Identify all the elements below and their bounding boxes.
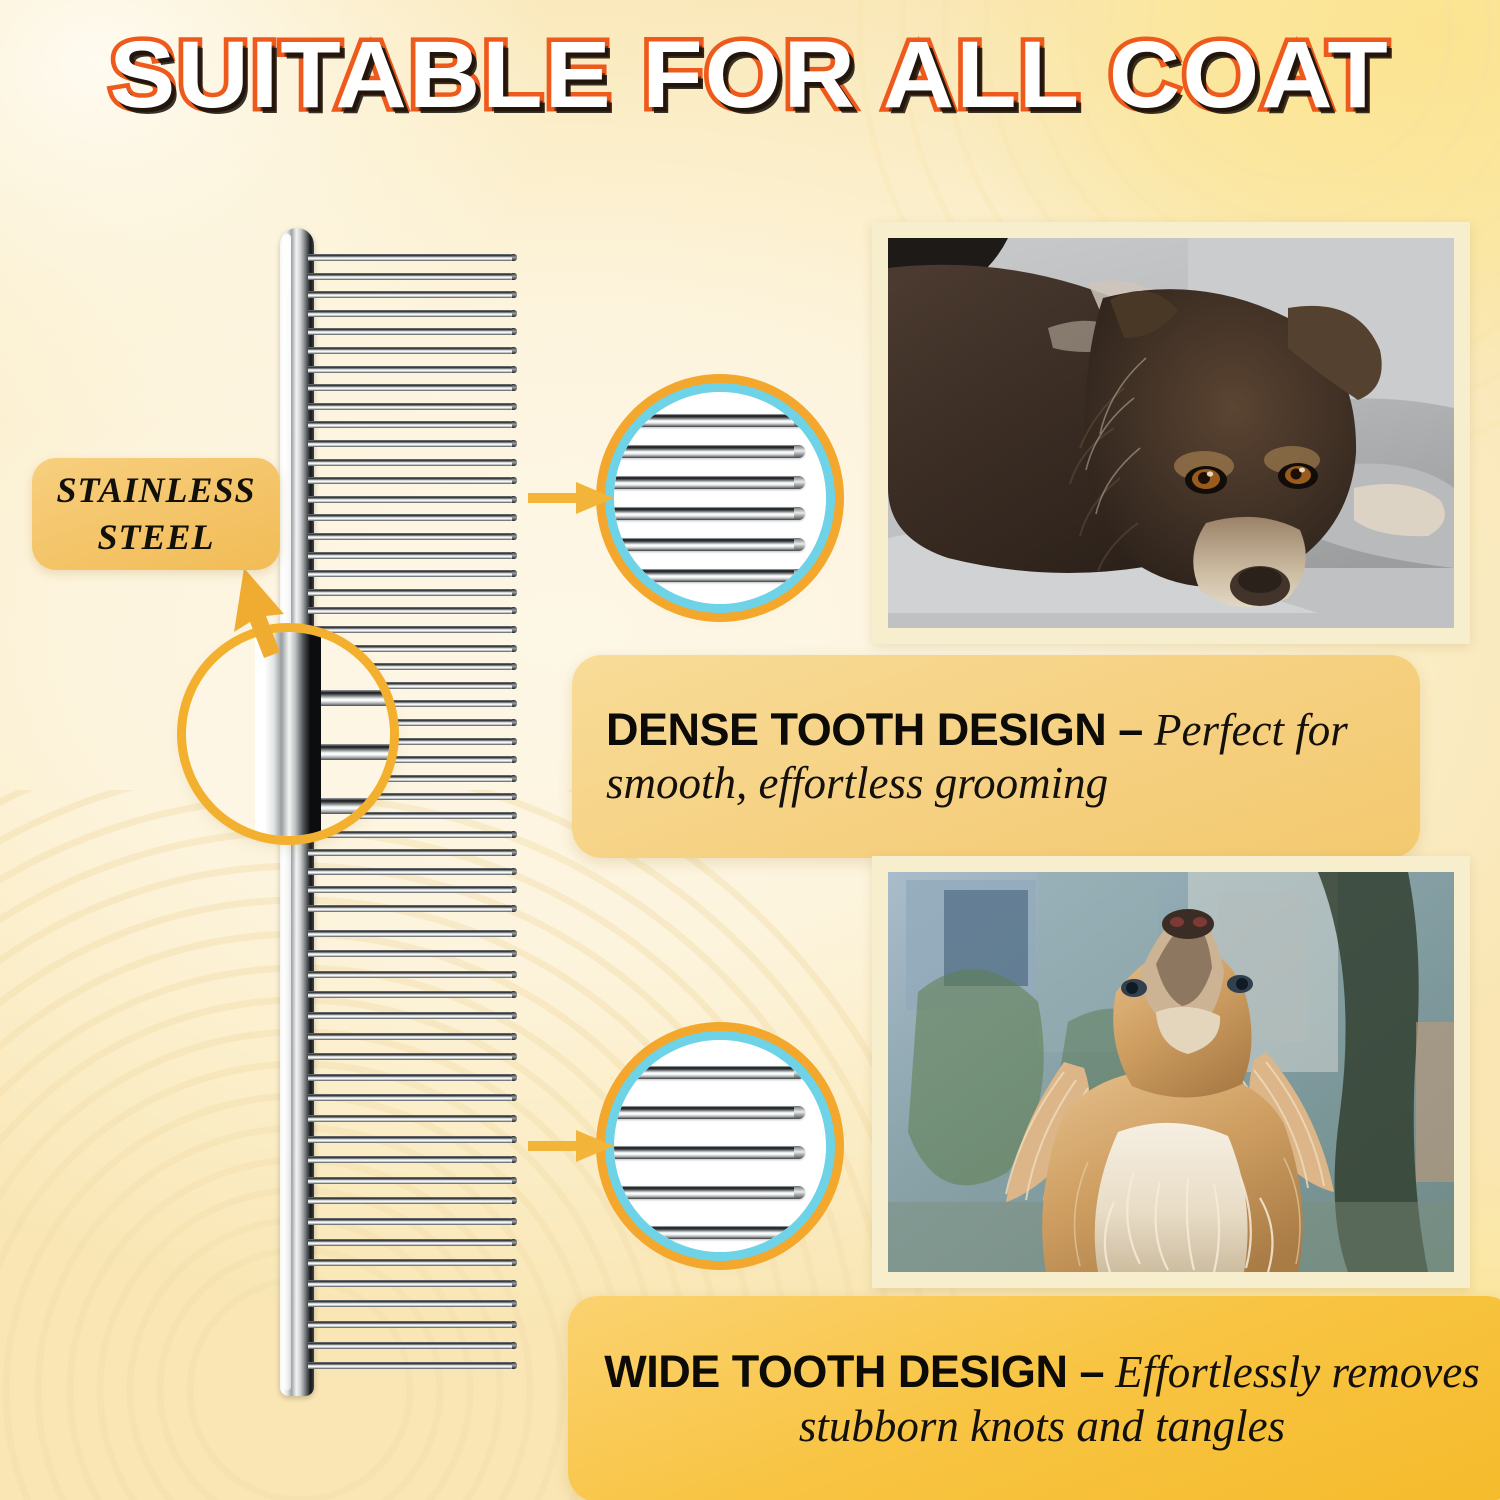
dense-tooth-caption: DENSE TOOTH DESIGN – Perfect for smooth,… <box>572 655 1420 858</box>
comb-tooth-wide <box>308 1342 514 1349</box>
comb-tooth-wide <box>308 930 514 937</box>
comb-tooth-dense <box>308 496 514 503</box>
wide-tooth-caption-strong: WIDE TOOTH DESIGN – <box>604 1346 1104 1397</box>
photo-dog-resting <box>888 238 1454 628</box>
photo-dog-looking-up-frame <box>872 856 1470 1288</box>
comb-tooth-wide <box>308 1012 514 1019</box>
magnifier-tooth <box>614 1066 805 1079</box>
magnifier-tooth <box>614 1226 805 1239</box>
comb-tooth-dense <box>308 589 514 596</box>
comb-tooth-wide <box>308 1177 514 1184</box>
stainless-steel-label: STAINLESS STEEL <box>32 458 280 570</box>
comb-tooth-dense <box>308 273 514 280</box>
wide-tooth-magnifier <box>614 1040 826 1252</box>
magnifier-tooth <box>614 569 805 582</box>
comb-tooth-dense <box>308 514 514 521</box>
magnifier-tooth <box>614 476 805 489</box>
comb-tooth-wide <box>308 1259 514 1266</box>
stainless-steel-line1: STAINLESS <box>56 470 255 510</box>
comb-tooth-wide <box>308 1321 514 1328</box>
comb-tooth-dense <box>308 384 514 391</box>
comb-tooth-dense <box>308 831 514 838</box>
dense-tooth-magnifier-inner <box>614 392 826 604</box>
magnifier-tooth <box>614 445 805 458</box>
comb-tooth-wide <box>308 1136 514 1143</box>
magnifier-tooth <box>614 538 805 551</box>
photo-dog-looking-up <box>888 872 1454 1272</box>
comb-tooth-dense <box>308 366 514 373</box>
comb-tooth-wide <box>308 1239 514 1246</box>
infographic-canvas: SUITABLE FOR ALL COAT STAINLESS STEEL <box>0 0 1500 1500</box>
photo-dog-resting-frame <box>872 222 1470 644</box>
comb-tooth-wide <box>308 1033 514 1040</box>
comb-tooth-dense <box>308 459 514 466</box>
comb-tooth-dense <box>308 403 514 410</box>
comb-tooth-dense <box>308 291 514 298</box>
comb-tooth-wide <box>308 1300 514 1307</box>
comb-tooth-wide <box>308 1094 514 1101</box>
dense-tooth-caption-text: DENSE TOOTH DESIGN – Perfect for smooth,… <box>606 703 1386 810</box>
comb-tooth-dense <box>308 310 514 317</box>
comb-tooth-dense <box>308 533 514 540</box>
comb-tooth-wide <box>308 1280 514 1287</box>
comb-tooth-wide <box>308 1074 514 1081</box>
stainless-steel-line2: STEEL <box>97 517 214 557</box>
comb-tooth-dense <box>308 849 514 856</box>
comb-tooth-dense <box>308 868 514 875</box>
arrow-right-icon <box>528 480 614 516</box>
comb-tooth-dense <box>308 254 514 261</box>
comb-tooth-dense <box>308 347 514 354</box>
comb-tooth-wide <box>308 971 514 978</box>
spine-magnifier-tooth <box>321 690 390 706</box>
wide-tooth-caption-text: WIDE TOOTH DESIGN – Effortlessly removes… <box>598 1345 1486 1452</box>
magnifier-tooth <box>614 1146 805 1159</box>
comb-tooth-wide <box>308 1156 514 1163</box>
comb-tooth-dense <box>308 440 514 447</box>
spine-magnifier-tooth <box>321 798 390 814</box>
comb-tooth-dense <box>308 570 514 577</box>
wide-tooth-magnifier-inner <box>614 1040 826 1252</box>
comb-tooth-wide <box>308 991 514 998</box>
comb-tooth-dense <box>308 607 514 614</box>
comb-tooth-wide <box>308 1362 514 1369</box>
stainless-steel-label-text: STAINLESS STEEL <box>56 467 255 561</box>
dense-tooth-magnifier <box>614 392 826 604</box>
comb-tooth-wide <box>308 950 514 957</box>
comb-tooth-dense <box>308 477 514 484</box>
comb-tooth-wide <box>308 1218 514 1225</box>
magnifier-tooth <box>614 1106 805 1119</box>
comb-tooth-dense <box>308 905 514 912</box>
comb-tooth-wide <box>308 1115 514 1122</box>
spine-magnifier-tooth <box>321 744 390 760</box>
magnifier-tooth <box>614 414 805 427</box>
comb-tooth-wide <box>308 1197 514 1204</box>
comb-tooth-dense <box>308 626 514 633</box>
wide-tooth-caption: WIDE TOOTH DESIGN – Effortlessly removes… <box>568 1296 1500 1500</box>
comb-tooth-dense <box>308 552 514 559</box>
comb-tooth-wide <box>308 1053 514 1060</box>
dense-tooth-caption-strong: DENSE TOOTH DESIGN – <box>606 704 1143 755</box>
magnifier-tooth <box>614 507 805 520</box>
magnifier-tooth <box>614 1186 805 1199</box>
arrow-up-left-icon <box>222 560 332 670</box>
comb-tooth-dense <box>308 421 514 428</box>
comb-tooth-dense <box>308 886 514 893</box>
arrow-right-icon <box>528 1128 614 1164</box>
comb-tooth-dense <box>308 328 514 335</box>
